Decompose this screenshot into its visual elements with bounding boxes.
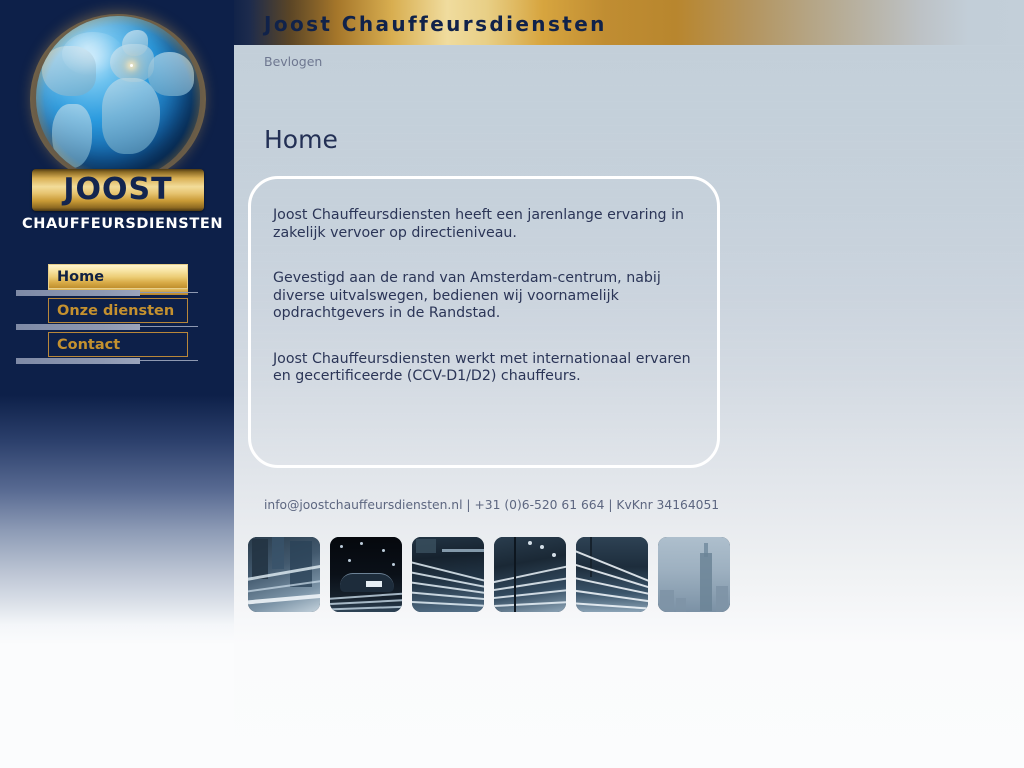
site-header: Joost Chauffeursdiensten — [234, 0, 1024, 45]
thumbnail-gallery — [248, 537, 730, 612]
sidebar-item-contact[interactable]: Contact — [48, 332, 188, 357]
globe-sparkle-icon — [130, 64, 133, 67]
nav-contact-right-line — [140, 360, 198, 361]
globe-landmass-africa — [102, 78, 160, 154]
page-header-title: Joost Chauffeursdiensten — [264, 12, 607, 36]
globe-sphere — [36, 16, 200, 180]
logo-brand-name: JOOST — [32, 169, 204, 211]
intro-paragraph-2: Gevestigd aan de rand van Amsterdam-cent… — [273, 270, 693, 323]
gallery-thumbnail-4[interactable] — [494, 537, 566, 612]
site-logo[interactable]: JOOST CHAUFFEURSDIENSTEN — [22, 14, 214, 246]
gallery-thumbnail-5[interactable] — [576, 537, 648, 612]
contact-info-line[interactable]: info@joostchauffeursdiensten.nl | +31 (0… — [264, 498, 719, 512]
main-navigation: Home Onze diensten Contact — [0, 264, 234, 366]
sidebar-item-home[interactable]: Home — [48, 264, 188, 289]
breadcrumb[interactable]: Bevlogen — [264, 54, 322, 69]
intro-paragraph-3: Joost Chauffeursdiensten werkt met inter… — [273, 351, 693, 386]
nav-onze-diensten-right-line — [140, 326, 198, 327]
nav-home-right-line — [140, 292, 198, 293]
main-content: Bevlogen Home Joost Chauffeursdiensten h… — [234, 45, 1024, 768]
nav-home-left-bar — [16, 290, 140, 296]
sidebar: JOOST CHAUFFEURSDIENSTEN Home Onze diens… — [0, 0, 234, 768]
globe-landmass-asia — [148, 52, 194, 96]
gallery-thumbnail-6[interactable] — [658, 537, 730, 612]
nav-row-contact: Contact — [0, 332, 234, 366]
page-root: JOOST CHAUFFEURSDIENSTEN Home Onze diens… — [0, 0, 1024, 768]
intro-paragraph-1: Joost Chauffeursdiensten heeft een jaren… — [273, 207, 693, 242]
gallery-thumbnail-1[interactable] — [248, 537, 320, 612]
content-panel: Joost Chauffeursdiensten heeft een jaren… — [248, 176, 720, 468]
globe-highlight — [62, 32, 124, 76]
logo-gold-banner: JOOST — [32, 169, 204, 211]
content-panel-body: Joost Chauffeursdiensten heeft een jaren… — [273, 207, 693, 386]
gallery-thumbnail-3[interactable] — [412, 537, 484, 612]
page-title: Home — [264, 125, 338, 154]
nav-row-home: Home — [0, 264, 234, 298]
logo-brand-subtitle: CHAUFFEURSDIENSTEN — [22, 216, 214, 232]
nav-onze-diensten-left-bar — [16, 324, 140, 330]
nav-contact-left-bar — [16, 358, 140, 364]
nav-row-onze-diensten: Onze diensten — [0, 298, 234, 332]
sidebar-item-onze-diensten[interactable]: Onze diensten — [48, 298, 188, 323]
globe-icon — [30, 14, 206, 190]
globe-landmass-south-america — [52, 104, 92, 168]
gallery-thumbnail-2[interactable] — [330, 537, 402, 612]
